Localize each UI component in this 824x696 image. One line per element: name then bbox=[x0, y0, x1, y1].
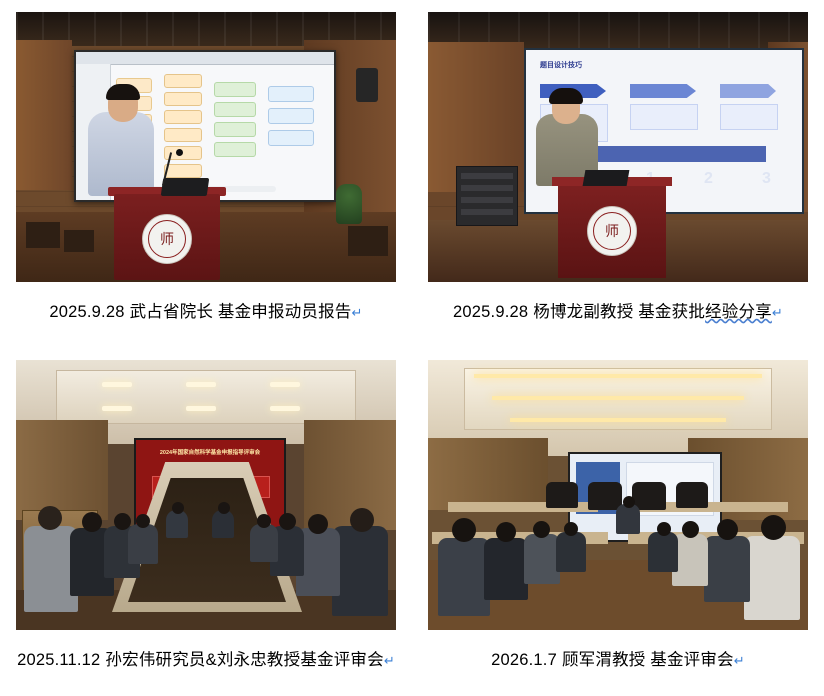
photo-3-caption-date: 2025.11.12 bbox=[17, 651, 100, 669]
pilcrow-mark-4: ↵ bbox=[734, 653, 745, 668]
photo-4-caption-date: 2026.1.7 bbox=[491, 651, 557, 669]
speaker-person-1 bbox=[88, 112, 154, 196]
photo-cell-3: 2024年国家自然科学基金申报指导评审会 药学院专家工作组 bbox=[0, 348, 412, 696]
photo-2-caption-wavy: 经验分享 bbox=[705, 303, 772, 321]
slide-number-3: 3 bbox=[762, 170, 771, 188]
photo-grid-page: 师 2025.9.28武占省院长 基金申报动员报告↵ 题 bbox=[0, 0, 824, 696]
photo-3-caption-text: 孙宏伟研究员&刘永忠教授基金评审会 bbox=[105, 651, 383, 669]
pilcrow-mark-3: ↵ bbox=[384, 653, 395, 668]
laptop bbox=[161, 178, 210, 196]
photo-4-caption: 2026.1.7顾军渭教授 基金评审会↵ bbox=[491, 646, 745, 670]
podium-1: 师 bbox=[114, 194, 220, 280]
photo-2-image: 题目设计技巧 1 2 3 bbox=[428, 12, 808, 282]
laptop bbox=[583, 170, 630, 186]
podium-2: 师 bbox=[558, 186, 666, 278]
photo-cell-1: 师 2025.9.28武占省院长 基金申报动员报告↵ bbox=[0, 0, 412, 348]
photo-1-caption: 2025.9.28武占省院长 基金申报动员报告↵ bbox=[49, 298, 362, 322]
photo-cell-2: 题目设计技巧 1 2 3 bbox=[412, 0, 824, 348]
wall-speaker bbox=[356, 68, 378, 102]
photo-4-caption-text: 顾军渭教授 基金评审会 bbox=[562, 651, 734, 669]
photo-1-caption-date: 2025.9.28 bbox=[49, 303, 124, 321]
photo-2-caption: 2025.9.28杨博龙副教授 基金获批经验分享↵ bbox=[453, 298, 783, 322]
microphone-icon bbox=[176, 149, 183, 156]
pilcrow-mark-1: ↵ bbox=[352, 305, 363, 320]
university-crest-icon: 师 bbox=[587, 206, 637, 256]
photo-grid: 师 2025.9.28武占省院长 基金申报动员报告↵ 题 bbox=[0, 0, 824, 696]
pilcrow-mark-2: ↵ bbox=[772, 305, 783, 320]
slide-title: 题目设计技巧 bbox=[540, 60, 582, 70]
photo-2-caption-date: 2025.9.28 bbox=[453, 303, 528, 321]
photo-2-caption-text: 杨博龙副教授 基金获批经验分享 bbox=[533, 303, 772, 321]
slide-number-2: 2 bbox=[704, 170, 713, 188]
photo-cell-4: 2026.1.7顾军渭教授 基金评审会↵ bbox=[412, 348, 824, 696]
photo-1-image: 师 bbox=[16, 12, 396, 282]
photo-3-image: 2024年国家自然科学基金申报指导评审会 药学院专家工作组 bbox=[16, 360, 396, 630]
photo-3-caption: 2025.11.12孙宏伟研究员&刘永忠教授基金评审会↵ bbox=[17, 646, 395, 670]
screen-title-3: 2024年国家自然科学基金申报指导评审会 bbox=[136, 448, 284, 456]
av-equipment-rack bbox=[456, 166, 518, 226]
photo-4-image bbox=[428, 360, 808, 630]
potted-plant bbox=[336, 184, 362, 224]
photo-1-caption-text: 武占省院长 基金申报动员报告 bbox=[130, 303, 352, 321]
university-crest-icon: 师 bbox=[142, 214, 192, 264]
